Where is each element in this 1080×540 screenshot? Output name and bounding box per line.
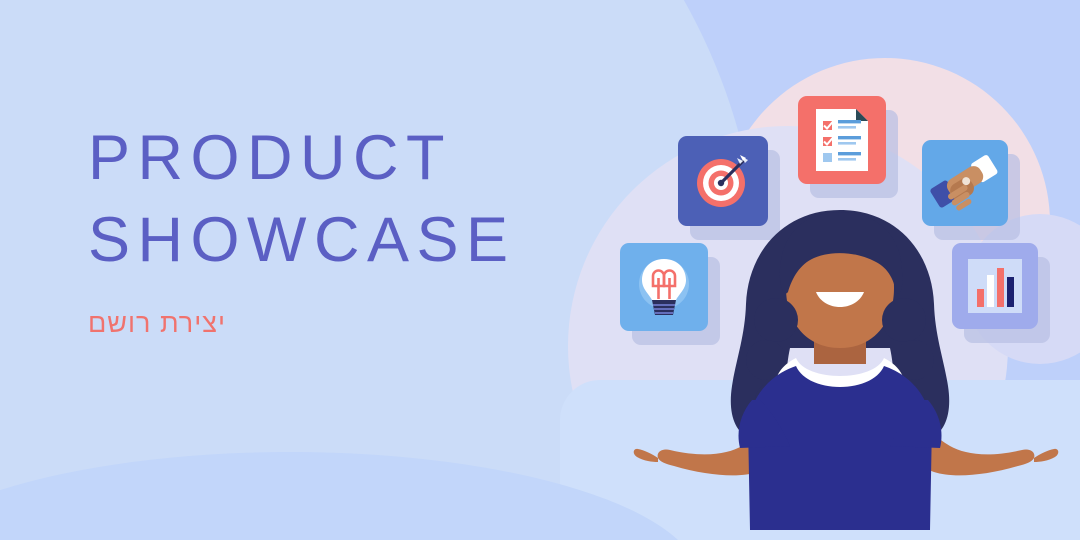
- icon-card-checklist[interactable]: [798, 96, 886, 184]
- page-title: PRODUCT SHOWCASE: [88, 118, 516, 282]
- card-face: [798, 96, 886, 184]
- woman-illustration: [600, 200, 1080, 540]
- page-subtitle: יצירת רושם: [88, 308, 516, 339]
- shirt: [748, 366, 932, 530]
- checklist-document-icon: [810, 105, 874, 175]
- text-block: PRODUCT SHOWCASE יצירת רושם: [88, 118, 516, 339]
- banner-canvas: PRODUCT SHOWCASE יצירת רושם: [0, 0, 1080, 540]
